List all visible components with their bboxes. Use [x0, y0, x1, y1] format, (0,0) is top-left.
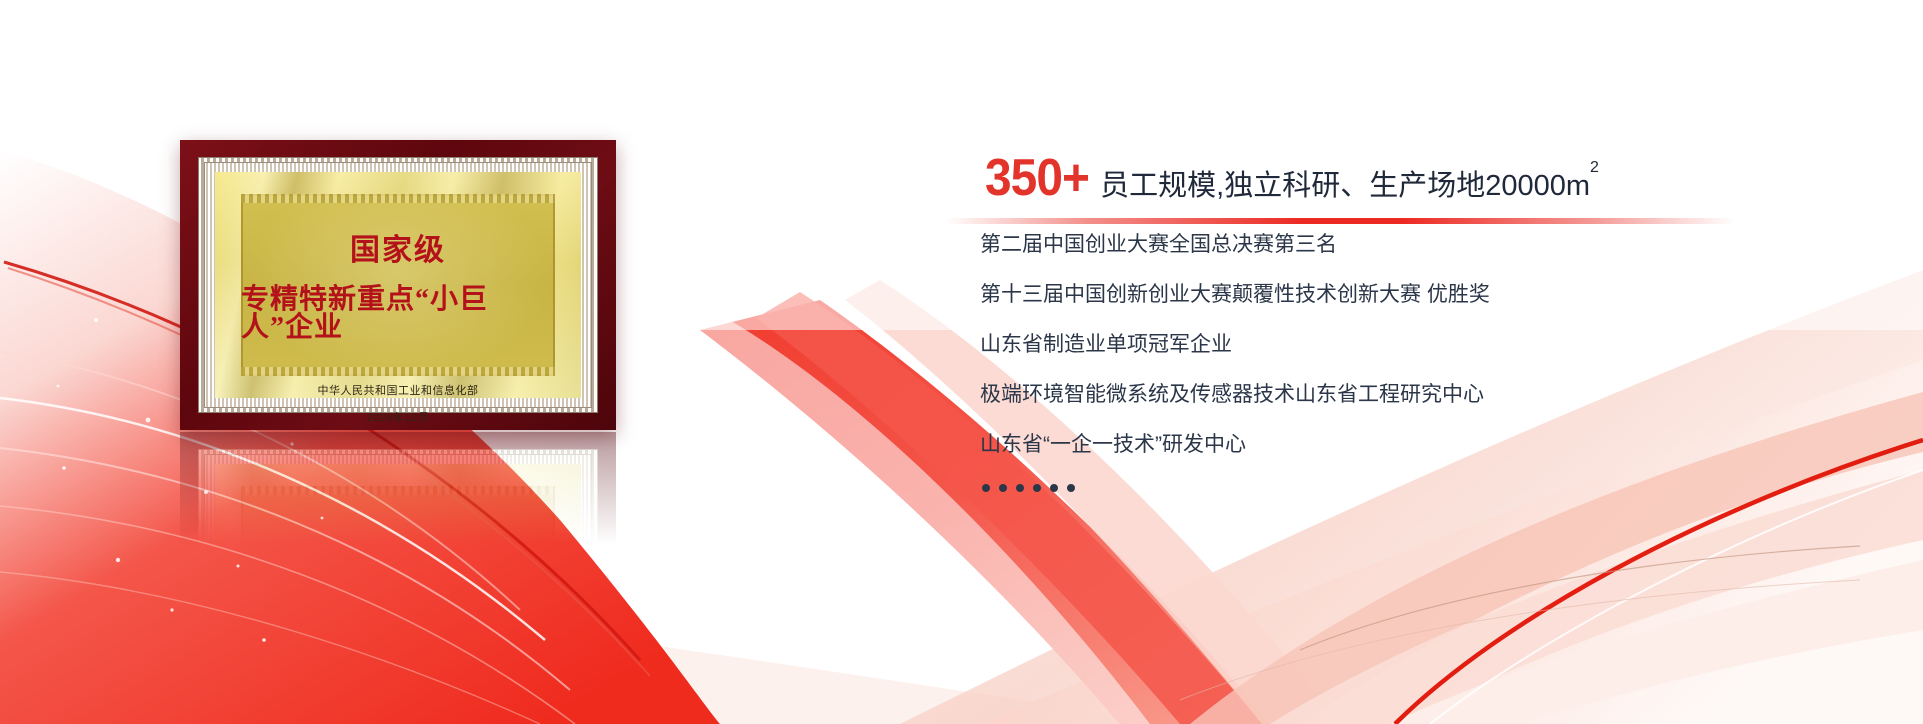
plaque-ornamental-border: 国家级 专精特新重点“小巨人”企业 中华人民共和国工业和信息化部 2024年12… [198, 157, 598, 413]
ellipsis-dot [982, 484, 990, 492]
plaque-issuer: 中华人民共和国工业和信息化部 [318, 382, 479, 398]
headline-superscript: 2 [1590, 159, 1599, 176]
list-item: 极端环境智能微系统及传感器技术山东省工程研究中心 [980, 384, 1800, 405]
ellipsis-dot [1016, 484, 1024, 492]
ellipsis-dots [982, 484, 1800, 492]
ellipsis-dot [1067, 484, 1075, 492]
info-column: 350+ 员工规模,独立科研、生产场地20000m2 第二届中国创业大赛全国总决… [985, 152, 1815, 204]
award-plaque: 国家级 专精特新重点“小巨人”企业 中华人民共和国工业和信息化部 2024年12… [180, 140, 616, 430]
list-item: 第十三届中国创新创业大赛颠覆性技术创新大赛 优胜奖 [980, 284, 1800, 305]
headline-underline [945, 218, 1735, 224]
plaque-frame: 国家级 专精特新重点“小巨人”企业 中华人民共和国工业和信息化部 2024年12… [180, 140, 616, 430]
headline-number: 350+ [985, 152, 1089, 204]
plaque-inner-border: 国家级 专精特新重点“小巨人”企业 中华人民共和国工业和信息化部 2024年12… [204, 162, 592, 408]
ellipsis-dot [1033, 484, 1041, 492]
plaque-engraved-area: 国家级 专精特新重点“小巨人”企业 中华人民共和国工业和信息化部 2024年12… [241, 194, 555, 376]
headline-text: 员工规模,独立科研、生产场地20000m2 [1100, 172, 1599, 201]
headline-text-main: 员工规模,独立科研、生产场地20000m [1100, 170, 1590, 202]
list-item: 第二届中国创业大赛全国总决赛第三名 [980, 234, 1800, 255]
headline: 350+ 员工规模,独立科研、生产场地20000m2 [985, 152, 1815, 204]
list-item: 山东省“一企一技术”研发中心 [980, 434, 1800, 455]
award-list: 第二届中国创业大赛全国总决赛第三名 第十三届中国创新创业大赛颠覆性技术创新大赛 … [980, 234, 1800, 492]
plaque-date: 2024年12月 [367, 409, 430, 425]
banner-stage: 国家级 专精特新重点“小巨人”企业 中华人民共和国工业和信息化部 2024年12… [0, 0, 1923, 724]
plaque-title-line2: 专精特新重点“小巨人”企业 [241, 286, 555, 342]
plaque-gold-panel: 国家级 专精特新重点“小巨人”企业 中华人民共和国工业和信息化部 2024年12… [215, 172, 581, 398]
list-item: 山东省制造业单项冠军企业 [980, 334, 1800, 355]
ellipsis-dot [999, 484, 1007, 492]
plaque-title-line1: 国家级 [350, 236, 446, 266]
ellipsis-dot [1050, 484, 1058, 492]
